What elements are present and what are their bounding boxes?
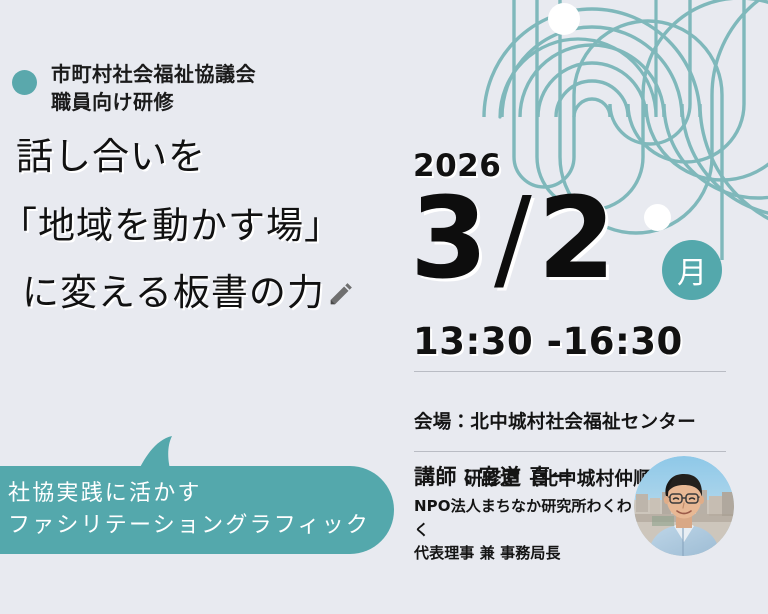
divider-above-venue (414, 371, 726, 372)
headline-line-3-wrap: に変える板書の力 (0, 274, 400, 311)
venue-line-1: 会場：北中城村社会福祉センター (414, 409, 744, 438)
speaker-affiliation: NPO法人まちなか研究所わくわく 代表理事 兼 事務局長 (414, 495, 646, 566)
eyebrow-block: 市町村社会福祉協議会 職員向け研修 (12, 60, 256, 117)
event-month: 3 (410, 174, 490, 304)
headline-block: 話し合いを 「地域を動かす場」 に変える板書の力 (0, 138, 400, 311)
event-date: 3/2 (410, 183, 618, 295)
event-details-column: 2026 3/2 月 13:30 -16:30 会場：北中城村社会福祉センター … (410, 0, 750, 614)
pencil-icon (327, 278, 357, 308)
headline-line-1: 話し合いを (0, 138, 400, 175)
divider-above-speaker (414, 451, 726, 452)
date-separator: / (490, 174, 538, 304)
poster-canvas: 市町村社会福祉協議会 職員向け研修 話し合いを 「地域を動かす場」 に変える板書… (0, 0, 768, 614)
weekday-badge: 月 (662, 240, 722, 300)
headline-line-2: 「地域を動かす場」 (0, 207, 400, 244)
event-time: 13:30 -16:30 (413, 320, 683, 363)
speaker-name: 講師：宮道 喜一 (414, 461, 572, 491)
headline-line-3: に変える板書の力 (22, 274, 325, 311)
speaker-portrait (634, 456, 734, 556)
event-day: 2 (538, 174, 618, 304)
eyebrow-text: 市町村社会福祉協議会 職員向け研修 (51, 60, 256, 117)
circle-bullet-icon (12, 70, 37, 95)
banner-text: 社協実践に活かす ファシリテーショングラフィック (8, 478, 388, 542)
